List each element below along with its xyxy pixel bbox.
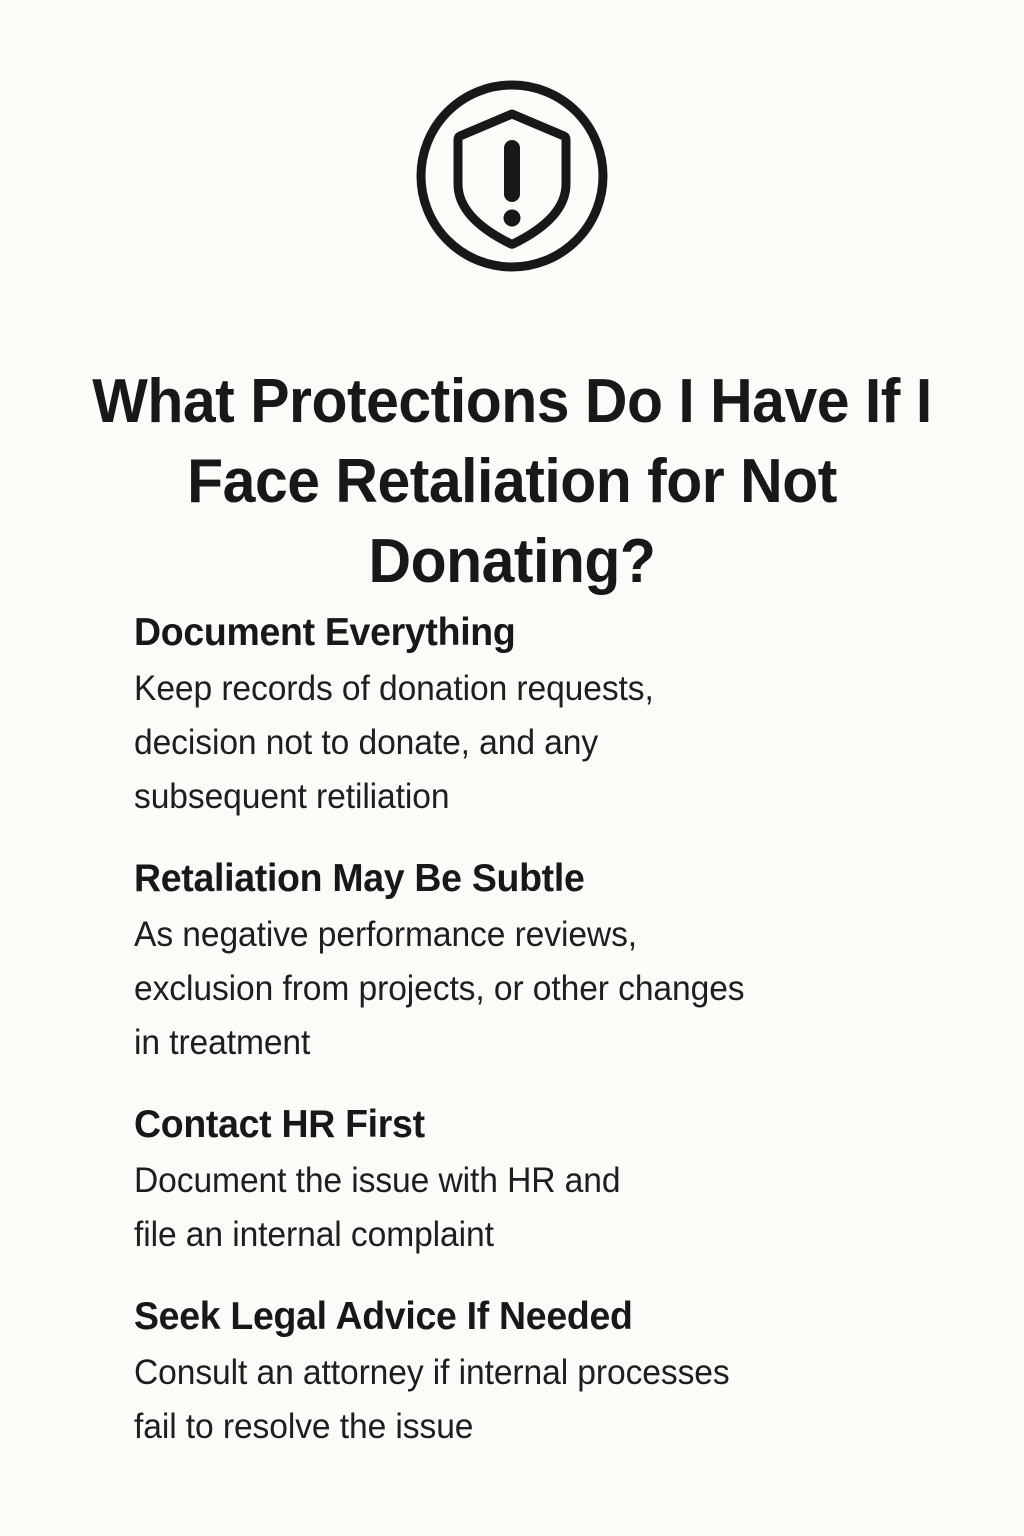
exclamation-bar (504, 140, 520, 202)
poster-root: What Protections Do I Have If I Face Ret… (0, 0, 1024, 1536)
section-item: Seek Legal Advice If Needed Consult an a… (134, 1292, 934, 1454)
section-item: Contact HR First Document the issue with… (134, 1100, 934, 1262)
shield-alert-icon (414, 78, 610, 274)
sections-list: Document Everything Keep records of dona… (134, 608, 934, 1454)
section-item: Document Everything Keep records of dona… (134, 608, 934, 824)
header-icon-container (0, 78, 1024, 274)
section-heading: Seek Legal Advice If Needed (134, 1292, 902, 1342)
section-heading: Contact HR First (134, 1100, 902, 1150)
section-body: As negative performance reviews, exclusi… (134, 908, 902, 1070)
section-item: Retaliation May Be Subtle As negative pe… (134, 854, 934, 1070)
section-body: Keep records of donation requests, decis… (134, 662, 902, 824)
section-heading: Retaliation May Be Subtle (134, 854, 902, 904)
exclamation-dot (504, 210, 521, 227)
section-body: Consult an attorney if internal processe… (134, 1346, 902, 1454)
section-heading: Document Everything (134, 608, 902, 658)
section-body: Document the issue with HR and file an i… (134, 1154, 902, 1262)
page-title: What Protections Do I Have If I Face Ret… (73, 362, 951, 602)
